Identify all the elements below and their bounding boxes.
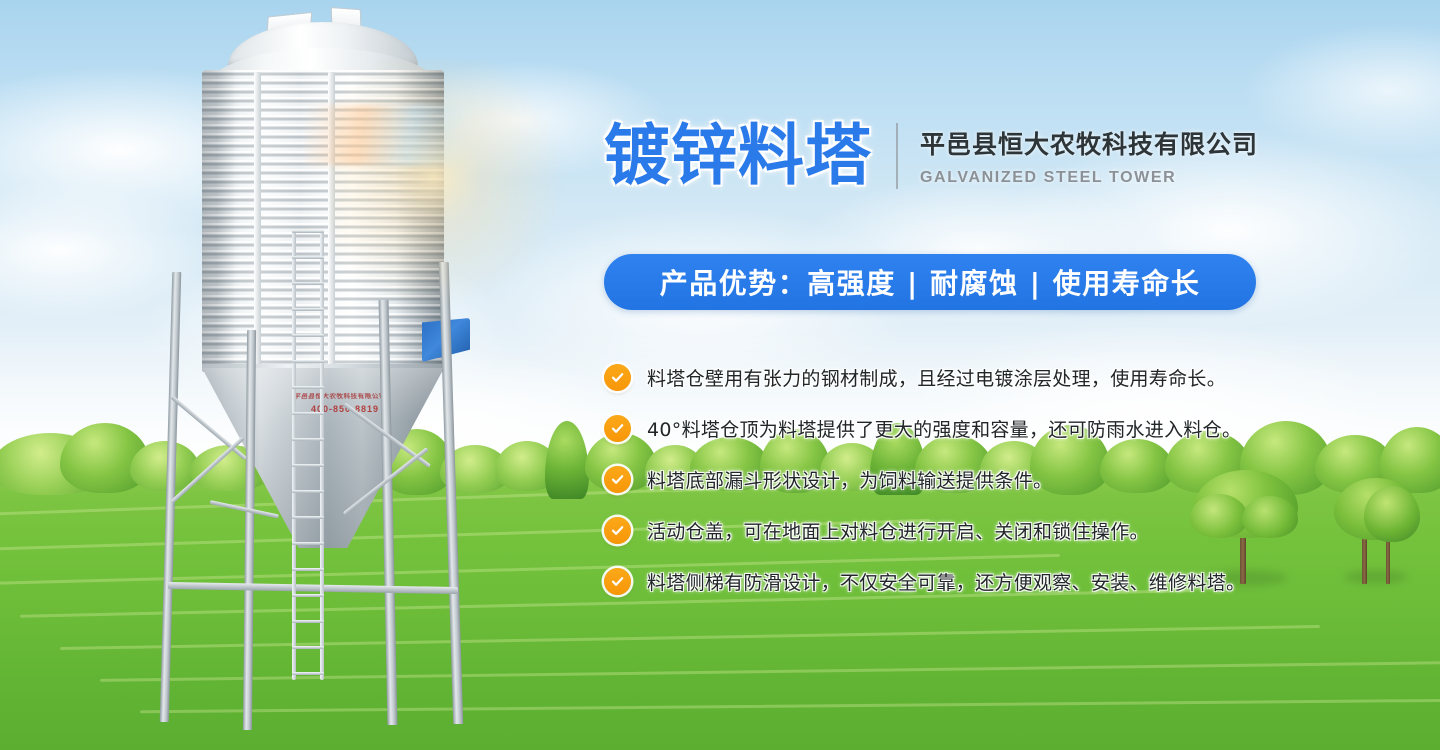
check-icon xyxy=(604,364,631,391)
title-divider xyxy=(896,123,898,189)
silo-ladder xyxy=(292,230,324,680)
ladder-rung xyxy=(292,594,324,597)
ladder-rung xyxy=(292,334,324,337)
feature-item: 40°料塔仓顶为料塔提供了更大的强度和容量，还可防雨水进入料仓。 xyxy=(604,403,1304,454)
ladder-rung xyxy=(292,308,324,311)
ladder-rung xyxy=(292,438,324,441)
ladder-rung xyxy=(292,646,324,649)
feature-item: 活动仓盖，可在地面上对料仓进行开启、关闭和锁住操作。 xyxy=(604,505,1304,556)
ladder-rung xyxy=(292,256,324,259)
foreground-tree xyxy=(1330,478,1420,590)
company-name: 平邑县恒大农牧科技有限公司 xyxy=(920,125,1258,161)
ladder-rung xyxy=(292,672,324,675)
feature-text: 料塔侧梯有防滑设计，不仅安全可靠，还方便观察、安装、维修料塔。 xyxy=(647,568,1245,595)
galvanized-silo-image: 平邑县恒大农牧科技有限公司 400-850-8819 xyxy=(150,0,490,750)
check-icon xyxy=(604,568,631,595)
feature-text: 活动仓盖，可在地面上对料仓进行开启、关闭和锁住操作。 xyxy=(647,517,1149,544)
hero-banner: 平邑县恒大农牧科技有限公司 400-850-8819 镀锌料塔 平邑县恒大农牧科… xyxy=(0,0,1440,750)
feature-text: 料塔底部漏斗形状设计，为饲料输送提供条件。 xyxy=(647,466,1052,493)
ladder-rung xyxy=(292,412,324,415)
ladder-rung xyxy=(292,620,324,623)
ladder-rung xyxy=(292,282,324,285)
feature-text: 40°料塔仓顶为料塔提供了更大的强度和容量，还可防雨水进入料仓。 xyxy=(647,415,1241,442)
ladder-rung xyxy=(292,568,324,571)
ladder-rung xyxy=(292,360,324,363)
check-icon xyxy=(604,415,631,442)
feature-list: 料塔仓壁用有张力的钢材制成，且经过电镀涂层处理，使用寿命长。40°料塔仓顶为料塔… xyxy=(604,352,1304,607)
check-icon xyxy=(604,517,631,544)
ladder-rung xyxy=(292,516,324,519)
company-subtitle: GALVANIZED STEEL TOWER xyxy=(920,169,1258,187)
ladder-rung xyxy=(292,230,324,233)
silo-brace xyxy=(171,436,245,503)
advantages-banner-text: 产品优势：高强度 | 耐腐蚀 | 使用寿命长 xyxy=(660,262,1200,302)
feature-text: 料塔仓壁用有张力的钢材制成，且经过电镀涂层处理，使用寿命长。 xyxy=(647,364,1226,391)
ladder-rung xyxy=(292,464,324,467)
check-icon xyxy=(604,466,631,493)
company-block: 平邑县恒大农牧科技有限公司 GALVANIZED STEEL TOWER xyxy=(920,125,1258,187)
advantages-banner: 产品优势：高强度 | 耐腐蚀 | 使用寿命长 xyxy=(604,254,1256,310)
lens-flare-streak xyxy=(305,105,495,165)
page-title: 镀锌料塔 xyxy=(604,118,872,194)
feature-item: 料塔底部漏斗形状设计，为饲料输送提供条件。 xyxy=(604,454,1304,505)
feature-item: 料塔侧梯有防滑设计，不仅安全可靠，还方便观察、安装、维修料塔。 xyxy=(604,556,1304,607)
feature-item: 料塔仓壁用有张力的钢材制成，且经过电镀涂层处理，使用寿命长。 xyxy=(604,352,1304,403)
ladder-rung xyxy=(292,386,324,389)
silo-band xyxy=(254,72,261,372)
ladder-rung xyxy=(292,490,324,493)
ladder-rung xyxy=(292,542,324,545)
conifer-tree xyxy=(545,421,589,499)
headline-row: 镀锌料塔 平邑县恒大农牧科技有限公司 GALVANIZED STEEL TOWE… xyxy=(604,118,1258,194)
